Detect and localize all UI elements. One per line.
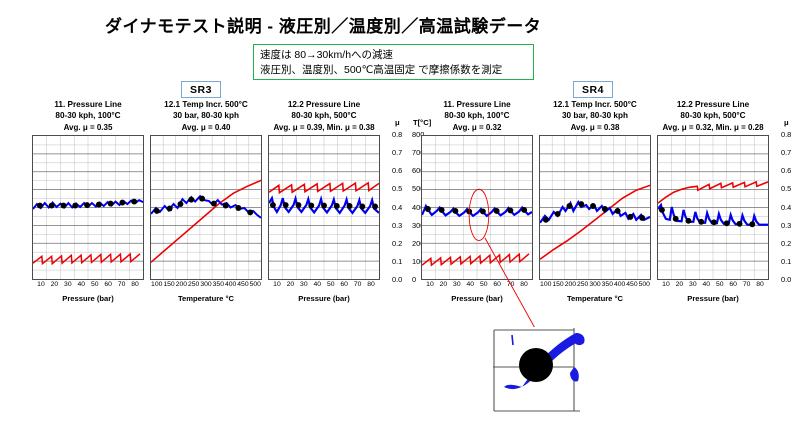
x-tick: 60 (340, 281, 348, 288)
x-tick: 50 (480, 281, 488, 288)
x-tick: 60 (729, 281, 737, 288)
x-tick-labels: 100 150 200 250 300 350 400 450 500 (150, 281, 262, 292)
mu-tick: 0.3 (781, 221, 791, 230)
x-tick: 10 (426, 281, 434, 288)
x-tick: 40 (702, 281, 710, 288)
page-title: ダイナモテスト説明 - 液圧別／温度別／高温試験データ (105, 12, 541, 37)
x-tick: 10 (662, 281, 670, 288)
chart-stats: Avg. μ = 0.35 (32, 122, 144, 133)
x-tick: 50 (327, 281, 335, 288)
chart-title-line2: 30 bar, 80-30 kph (539, 110, 651, 121)
x-tick: 350 (213, 281, 224, 288)
mu-tick: 0.1 (392, 257, 402, 266)
chart-panel-sr4-2: 12.1 Temp Incr. 500°C 30 bar, 80-30 kph … (539, 99, 651, 303)
x-axis-title: Pressure (bar) (421, 294, 533, 303)
mu-tick: 0.8 (392, 130, 402, 139)
x-tick: 50 (716, 281, 724, 288)
x-tick: 10 (37, 281, 45, 288)
x-tick: 40 (313, 281, 321, 288)
chart-stats: Avg. μ = 0.32 (421, 122, 533, 133)
x-tick: 400 (225, 281, 236, 288)
chart-header: 12.1 Temp Incr. 500°C 30 bar, 80-30 kph … (150, 99, 262, 133)
plot-svg (540, 136, 650, 279)
x-tick: 20 (440, 281, 448, 288)
axis-header-mu: μ (395, 118, 400, 127)
chart-title-line2: 80-30 kph, 100°C (421, 110, 533, 121)
mu-tick: 0.7 (781, 148, 791, 157)
temperature-series (540, 185, 650, 259)
right-axis-sr4: μ T[°C] 0.8800 0.7700 0.6600 0.5500 0.44… (777, 99, 800, 289)
chart-panel-sr3-3: 12.2 Pressure Line 80-30 kph, 500°C Avg.… (268, 99, 380, 303)
mu-tick: 0.0 (781, 275, 791, 284)
data-point-markers (37, 199, 137, 209)
mu-tick: 0.5 (392, 184, 402, 193)
mu-tick: 0.2 (781, 239, 791, 248)
x-tick: 50 (91, 281, 99, 288)
x-tick: 500 (639, 281, 650, 288)
axis-header-mu: μ (784, 118, 789, 127)
chart-title-line2: 80-30 kph, 100°C (32, 110, 144, 121)
plot-area (539, 135, 651, 280)
x-tick: 200 (176, 281, 187, 288)
chart-stats: Avg. μ = 0.38 (539, 122, 651, 133)
chart-stats: Avg. μ = 0.32, Min. μ = 0.28 (657, 122, 769, 133)
mu-tick: 0.1 (781, 257, 791, 266)
x-tick: 30 (64, 281, 72, 288)
chart-title-line1: 12.1 Temp Incr. 500°C (150, 99, 262, 110)
callout-box: 速度は 80→30km/hへの減速 液圧別、温度別、500℃高温固定 で摩擦係数… (253, 44, 534, 80)
x-tick: 250 (577, 281, 588, 288)
x-tick-labels: 10 20 30 40 50 60 70 80 (268, 281, 380, 292)
chart-title-line1: 11. Pressure Line (32, 99, 144, 110)
x-tick: 80 (131, 281, 139, 288)
plot-svg (151, 136, 261, 279)
x-axis-title: Pressure (bar) (268, 294, 380, 303)
callout-line-1: 速度は 80→30km/hへの減速 (260, 48, 527, 63)
x-tick-labels: 10 20 30 40 50 60 70 80 (657, 281, 769, 292)
plot-area (268, 135, 380, 280)
x-tick: 150 (552, 281, 563, 288)
x-tick: 450 (237, 281, 248, 288)
mu-tick: 0.5 (781, 184, 791, 193)
x-tick: 80 (520, 281, 528, 288)
x-tick: 80 (367, 281, 375, 288)
chart-panel-sr3-2: 12.1 Temp Incr. 500°C 30 bar, 80-30 kph … (150, 99, 262, 303)
chart-title-line1: 11. Pressure Line (421, 99, 533, 110)
chart-header: 11. Pressure Line 80-30 kph, 100°C Avg. … (421, 99, 533, 133)
plot-area (657, 135, 769, 280)
chart-panel-sr3-1: 11. Pressure Line 80-30 kph, 100°C Avg. … (32, 99, 144, 303)
x-tick: 60 (104, 281, 112, 288)
x-tick: 400 (614, 281, 625, 288)
temperature-series (422, 254, 529, 265)
slide-root: ダイナモテスト説明 - 液圧別／温度別／高温試験データ 速度は 80→30km/… (0, 0, 800, 423)
x-tick: 300 (200, 281, 211, 288)
x-tick: 300 (589, 281, 600, 288)
group-label-sr3: SR3 (181, 81, 221, 98)
x-tick: 70 (507, 281, 515, 288)
temp-tick: 0 (412, 275, 416, 284)
chart-header: 11. Pressure Line 80-30 kph, 100°C Avg. … (32, 99, 144, 133)
mu-tick: 0.8 (781, 130, 791, 139)
chart-title-line1: 12.1 Temp Incr. 500°C (539, 99, 651, 110)
x-tick: 30 (689, 281, 697, 288)
x-axis-title: Pressure (bar) (657, 294, 769, 303)
leader-tick (512, 335, 513, 345)
chart-stats: Avg. μ = 0.39, Min. μ = 0.38 (268, 122, 380, 133)
mu-tick: 0.0 (392, 275, 402, 284)
x-tick: 20 (287, 281, 295, 288)
mu-tick: 0.2 (392, 239, 402, 248)
x-tick: 250 (188, 281, 199, 288)
chart-header: 12.2 Pressure Line 80-30 kph, 500°C Avg.… (268, 99, 380, 133)
chart-title-line1: 12.2 Pressure Line (268, 99, 380, 110)
x-tick: 30 (453, 281, 461, 288)
x-tick: 40 (77, 281, 85, 288)
temperature-series (151, 180, 261, 262)
x-tick: 60 (493, 281, 501, 288)
chart-header: 12.1 Temp Incr. 500°C 30 bar, 80-30 kph … (539, 99, 651, 133)
x-tick: 20 (51, 281, 59, 288)
data-point-markers (543, 201, 645, 223)
x-tick-labels: 100 150 200 250 300 350 400 450 500 (539, 281, 651, 292)
group-label-sr4: SR4 (573, 81, 613, 98)
plot-svg (269, 136, 379, 279)
mu-tick: 0.4 (392, 203, 402, 212)
x-tick-labels: 10 20 30 40 50 60 70 80 (32, 281, 144, 292)
mu-tick: 0.7 (392, 148, 402, 157)
x-tick: 200 (565, 281, 576, 288)
x-tick: 40 (466, 281, 474, 288)
chart-header: 12.2 Pressure Line 80-30 kph, 500°C Avg.… (657, 99, 769, 133)
mu-tick: 0.6 (392, 166, 402, 175)
contact-spot-marker (519, 348, 553, 382)
chart-title-line2: 80-30 kph, 500°C (268, 110, 380, 121)
x-tick: 10 (273, 281, 281, 288)
plot-svg (33, 136, 143, 279)
brake-pad-zoom-photo (490, 327, 596, 415)
plot-svg (422, 136, 532, 279)
plot-area (150, 135, 262, 280)
x-axis-title: Temperature °C (539, 294, 651, 303)
x-tick: 30 (300, 281, 308, 288)
mu-tick: 0.3 (392, 221, 402, 230)
x-tick: 70 (354, 281, 362, 288)
chart-panel-sr4-1: 11. Pressure Line 80-30 kph, 100°C Avg. … (421, 99, 533, 303)
temperature-series (33, 254, 140, 264)
plot-area (421, 135, 533, 280)
x-tick: 100 (151, 281, 162, 288)
chart-title-line2: 80-30 kph, 500°C (657, 110, 769, 121)
x-tick: 20 (676, 281, 684, 288)
callout-line-2: 液圧別、温度別、500℃高温固定 で摩擦係数を測定 (260, 63, 527, 78)
x-tick: 350 (602, 281, 613, 288)
x-tick: 70 (118, 281, 126, 288)
x-tick: 100 (540, 281, 551, 288)
plot-svg (658, 136, 768, 279)
mu-tick: 0.6 (781, 166, 791, 175)
x-tick: 500 (250, 281, 261, 288)
x-tick: 450 (626, 281, 637, 288)
chart-panel-sr4-3: 12.2 Pressure Line 80-30 kph, 500°C Avg.… (657, 99, 769, 303)
mu-tick: 0.4 (781, 203, 791, 212)
x-tick-labels: 10 20 30 40 50 60 70 80 (421, 281, 533, 292)
x-tick: 150 (163, 281, 174, 288)
x-axis-title: Pressure (bar) (32, 294, 144, 303)
detail-photo-svg (490, 327, 596, 415)
plot-area (32, 135, 144, 280)
x-axis-title: Temperature °C (150, 294, 262, 303)
chart-title-line2: 30 bar, 80-30 kph (150, 110, 262, 121)
chart-title-line1: 12.2 Pressure Line (657, 99, 769, 110)
x-tick: 70 (743, 281, 751, 288)
x-tick: 80 (756, 281, 764, 288)
chart-stats: Avg. μ = 0.40 (150, 122, 262, 133)
